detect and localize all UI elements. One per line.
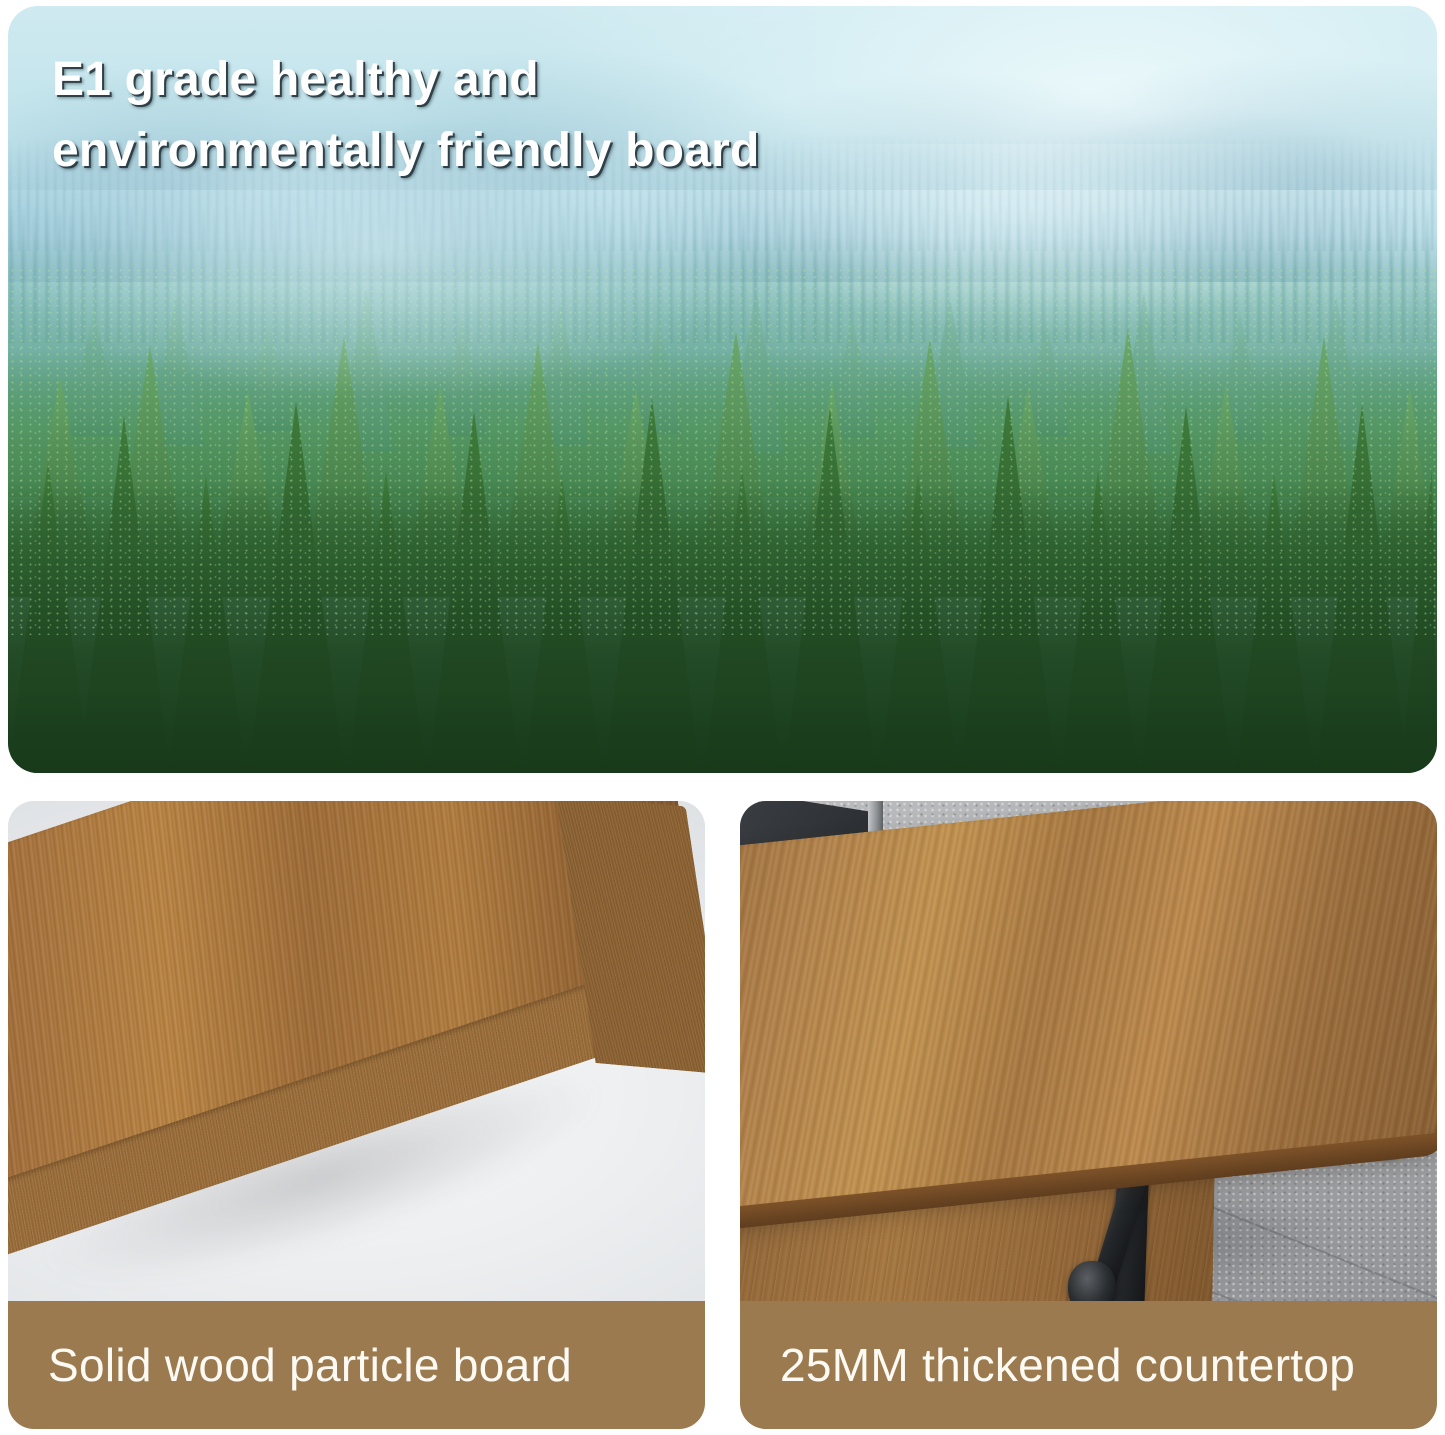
hero-headline: E1 grade healthy and environmentally fri…: [52, 44, 1082, 186]
caption-bar-1: Solid wood particle board: [8, 1301, 705, 1429]
feature-card-solid-wood-particle-board[interactable]: Solid wood particle board: [8, 801, 705, 1429]
feature-card-25mm-thickened-countertop[interactable]: 25MM thickened countertop: [740, 801, 1437, 1429]
caption-label-2: 25MM thickened countertop: [740, 1338, 1355, 1392]
desk-caster-wheel-center: [1068, 1261, 1117, 1301]
product-feature-page: E1 grade healthy and environmentally fri…: [0, 0, 1445, 1435]
desk-photo: [740, 801, 1437, 1301]
caption-bar-2: 25MM thickened countertop: [740, 1301, 1437, 1429]
feature-card-row: Solid wood particle board: [8, 801, 1437, 1429]
forest-mist-overlay: [8, 144, 1437, 497]
desk-countertop: [740, 801, 1437, 1222]
hero-forest-banner: E1 grade healthy and environmentally fri…: [8, 6, 1437, 773]
board-photo: [8, 801, 705, 1301]
caption-label-1: Solid wood particle board: [8, 1338, 572, 1392]
